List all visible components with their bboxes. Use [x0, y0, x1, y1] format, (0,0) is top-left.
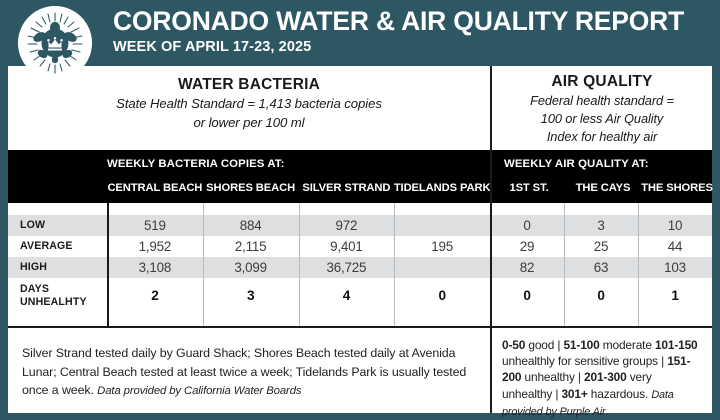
header-text-block: CORONADO WATER & AIR QUALITY REPORT WEEK… [113, 6, 713, 57]
table-row: DAYS UNHEALHTY 2 3 4 0 [8, 278, 490, 313]
water-cell-2-0: 3,108 [107, 260, 203, 275]
water-column-header-1: SHORES BEACH [203, 178, 299, 198]
water-cell-1-3: 195 [394, 239, 490, 254]
water-cell-0-0: 519 [107, 218, 203, 233]
air-column-header-0: 1ST ST. [492, 178, 566, 198]
water-row-label-3-line2: UNHEALHTY [20, 296, 107, 309]
water-column-header-2: SILVER STRAND [299, 178, 395, 198]
air-standard-line1: Federal health standard = [492, 92, 712, 109]
water-heading-block: WATER BACTERIA State Health Standard = 1… [8, 66, 490, 150]
water-standard-line2: or lower per 100 ml [8, 114, 490, 132]
water-table-header-title: WEEKLY BACTERIA COPIES AT: [107, 158, 284, 170]
table-row: AVERAGE 1,952 2,115 9,401 195 [8, 236, 490, 257]
water-row-label-2: HIGH [8, 261, 107, 274]
table-row: LOW 519 884 972 [8, 215, 490, 236]
table-row: 82 63 103 [490, 257, 712, 278]
water-cell-1-2: 9,401 [299, 239, 395, 254]
air-table-header-title: WEEKLY AIR QUALITY AT: [504, 158, 649, 170]
water-top-spacer [8, 203, 490, 215]
water-footnote: Silver Strand tested daily by Guard Shac… [8, 328, 490, 413]
water-row-label-3: DAYS UNHEALHTY [8, 283, 107, 308]
air-cell-3-0: 0 [490, 288, 564, 303]
aqi-label-5: hazardous. [588, 387, 649, 401]
air-standard-line2: 100 or less Air Quality [492, 110, 712, 127]
water-table-header: WEEKLY BACTERIA COPIES AT: CENTRAL BEACH… [8, 150, 490, 203]
water-row-label-1: AVERAGE [8, 240, 107, 253]
water-cell-1-0: 1,952 [107, 239, 203, 254]
report-header: CORONADO WATER & AIR QUALITY REPORT WEEK… [0, 0, 720, 63]
water-cell-2-1: 3,099 [203, 260, 299, 275]
air-cell-2-1: 63 [564, 260, 638, 275]
air-table-body: 0 3 10 29 25 44 82 63 103 [490, 203, 712, 313]
water-cell-1-1: 2,115 [203, 239, 299, 254]
air-cell-0-1: 3 [564, 218, 638, 233]
water-column-header-0: CENTRAL BEACH [107, 178, 203, 198]
air-cell-3-2: 1 [638, 288, 712, 303]
air-cell-3-1: 0 [564, 288, 638, 303]
air-cell-0-2: 10 [638, 218, 712, 233]
aqi-label-2: unhealthly for sensitive groups | [502, 354, 667, 368]
water-row-label-0: LOW [8, 219, 107, 232]
aqi-range-2: 101-150 [655, 338, 698, 352]
water-cell-2-2: 36,725 [299, 260, 395, 275]
section-headings: WATER BACTERIA State Health Standard = 1… [8, 66, 712, 150]
water-divider-2 [299, 203, 300, 328]
air-quality-table: WEEKLY AIR QUALITY AT: 1ST ST. THE CAYS … [490, 150, 712, 328]
water-divider-3 [394, 203, 395, 328]
air-top-spacer [490, 203, 712, 215]
aqi-range-5: 301+ [561, 387, 587, 401]
data-tables: WEEKLY BACTERIA COPIES AT: CENTRAL BEACH… [8, 150, 712, 328]
air-column-headers: 1ST ST. THE CAYS THE SHORES [492, 178, 712, 198]
water-divider-label [107, 203, 109, 328]
table-row: 0 3 10 [490, 215, 712, 236]
footnotes: Silver Strand tested daily by Guard Shac… [8, 328, 712, 413]
water-cell-3-2: 4 [299, 288, 395, 303]
water-divider-1 [203, 203, 204, 328]
air-divider-2 [638, 203, 639, 328]
aqi-range-0: 0-50 [502, 338, 525, 352]
aqi-label-1: moderate [600, 338, 652, 352]
water-column-headers: CENTRAL BEACH SHORES BEACH SILVER STRAND… [8, 178, 490, 198]
water-footnote-source: Data provided by California Water Boards [97, 385, 301, 397]
air-standard-line3: Index for healthy air [492, 128, 712, 145]
table-row: HIGH 3,108 3,099 36,725 [8, 257, 490, 278]
water-cell-3-1: 3 [203, 288, 299, 303]
water-section-title: WATER BACTERIA [8, 75, 490, 94]
turtle-crown-seal-icon [18, 6, 92, 80]
water-row-label-3-line1: DAYS [20, 283, 107, 296]
air-cell-1-0: 29 [490, 239, 564, 254]
aqi-range-1: 51-100 [563, 338, 599, 352]
air-cell-1-1: 25 [564, 239, 638, 254]
water-header-spacer [8, 178, 107, 198]
water-cell-3-3: 0 [394, 288, 490, 303]
air-column-header-2: THE SHORES [640, 178, 714, 198]
report-poster: CORONADO WATER & AIR QUALITY REPORT WEEK… [0, 0, 720, 420]
table-row: 0 0 1 [490, 278, 712, 313]
aqi-range-4: 201-300 [584, 370, 627, 384]
water-cell-0-1: 884 [203, 218, 299, 233]
air-cell-2-2: 103 [638, 260, 712, 275]
water-column-header-3: TIDELANDS PARK [394, 178, 490, 198]
air-heading-block: AIR QUALITY Federal health standard = 10… [490, 66, 712, 150]
air-cell-2-0: 82 [490, 260, 564, 275]
air-cell-0-0: 0 [490, 218, 564, 233]
air-divider-1 [564, 203, 565, 328]
water-cell-3-0: 2 [107, 288, 203, 303]
aqi-label-0: good | [525, 338, 563, 352]
air-cell-1-2: 44 [638, 239, 712, 254]
water-standard-line1: State Health Standard = 1,413 bacteria c… [8, 95, 490, 113]
aqi-label-3: unhealthy | [521, 370, 584, 384]
section-divider [490, 66, 492, 413]
aqi-legend: 0-50 good | 51-100 moderate 101-150 unhe… [490, 328, 712, 413]
water-cell-0-2: 972 [299, 218, 395, 233]
air-table-header: WEEKLY AIR QUALITY AT: 1ST ST. THE CAYS … [490, 150, 712, 203]
page-subtitle: WEEK OF APRIL 17-23, 2025 [113, 38, 713, 57]
table-row: 29 25 44 [490, 236, 712, 257]
page-title: CORONADO WATER & AIR QUALITY REPORT [113, 6, 713, 36]
air-section-title: AIR QUALITY [492, 72, 712, 91]
report-card: WATER BACTERIA State Health Standard = 1… [8, 66, 712, 413]
water-bacteria-table: WEEKLY BACTERIA COPIES AT: CENTRAL BEACH… [8, 150, 490, 328]
air-column-header-1: THE CAYS [566, 178, 640, 198]
water-table-body: LOW 519 884 972 AVERAGE 1,952 2,115 9,40… [8, 203, 490, 313]
